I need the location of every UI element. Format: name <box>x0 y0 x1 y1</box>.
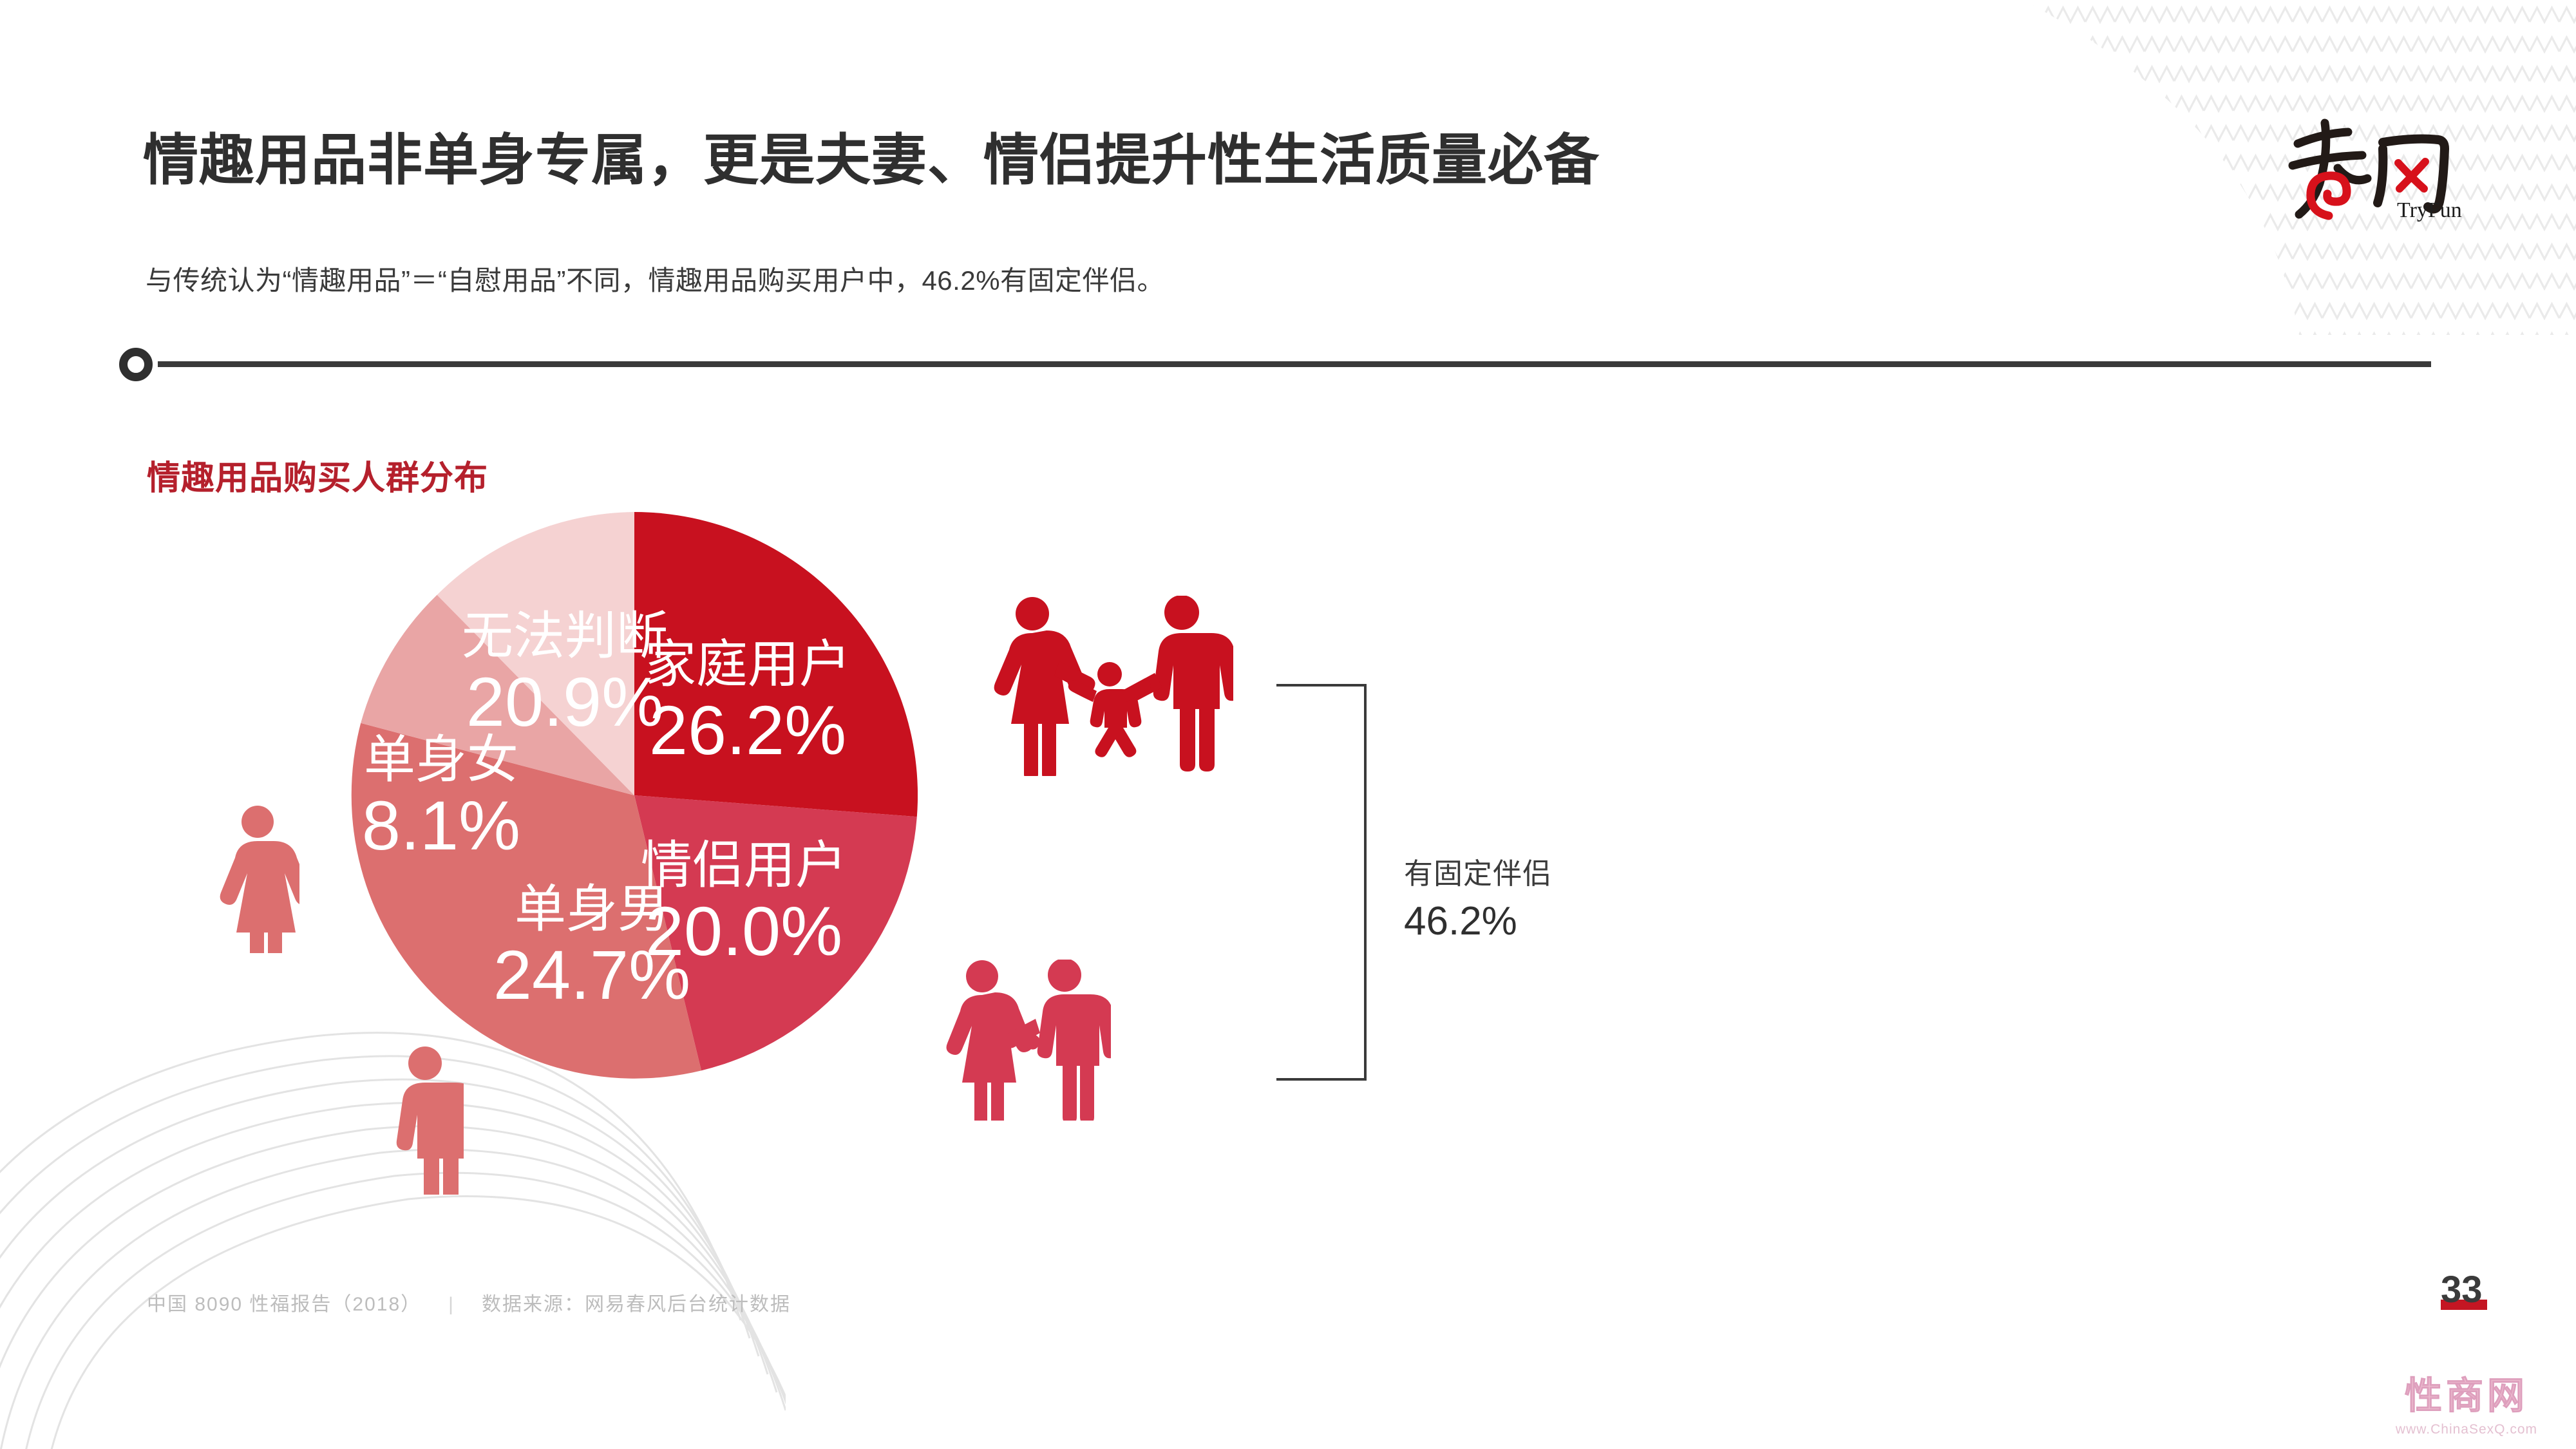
pie-chart: 家庭用户 26.2% 情侣用户 20.0% 单身男 24.7% 单身女 8.1%… <box>351 512 918 1079</box>
divider-line <box>158 361 2431 367</box>
page-number: 33 <box>2441 1272 2487 1310</box>
annotation-label: 有固定伴侣 <box>1404 850 1552 892</box>
footer-source: 数据来源：网易春风后台统计数据 <box>482 1294 791 1315</box>
couple-icon <box>937 960 1111 1121</box>
pie-slice-label-single-male: 单身男 24.7% <box>493 880 690 1014</box>
svg-text:家庭用户: 家庭用户 <box>645 636 851 693</box>
single-male-icon <box>386 1046 464 1195</box>
svg-text:情侣用户: 情侣用户 <box>641 837 847 894</box>
section-heading: 情趣用品购买人群分布 <box>147 451 488 499</box>
pie-slice-label-unknown: 无法判断 20.9% <box>462 607 668 741</box>
watermark-text: 性商网 <box>2396 1365 2537 1419</box>
footer: 中国 8090 性福报告（2018）|数据来源：网易春风后台统计数据 <box>147 1288 791 1316</box>
divider-dot <box>119 348 153 381</box>
svg-text:26.2%: 26.2% <box>649 691 846 769</box>
svg-text:单身男: 单身男 <box>515 880 669 938</box>
single-female-icon <box>216 805 299 953</box>
svg-text:8.1%: 8.1% <box>362 786 520 864</box>
footer-separator: | <box>421 1294 482 1315</box>
page-number-value: 33 <box>2441 1272 2487 1307</box>
family-icon <box>989 596 1233 776</box>
pie-slice-label-single-female: 单身女 8.1% <box>362 731 520 864</box>
page-subtitle: 与传统认为“情趣用品”＝“自慰用品”不同，情趣用品购买用户中，46.2%有固定伴… <box>146 259 1164 298</box>
brand-logo: TryFun <box>2286 106 2499 241</box>
logo-en-text: TryFun <box>2397 198 2462 222</box>
annotation-value: 46.2% <box>1404 898 1552 944</box>
annotation-fixed-partner: 有固定伴侣 46.2% <box>1404 850 1552 944</box>
svg-text:24.7%: 24.7% <box>493 936 690 1014</box>
svg-text:无法判断: 无法判断 <box>462 607 668 665</box>
page-title: 情趣用品非单身专属，更是夫妻、情侣提升性生活质量必备 <box>143 115 1600 195</box>
pie-slice-label-family: 家庭用户 26.2% <box>645 636 851 769</box>
grouping-bracket <box>1275 683 1378 1082</box>
watermark: 性商网 www.ChinaSexQ.com <box>2396 1365 2537 1437</box>
slide: TryFun 情趣用品非单身专属，更是夫妻、情侣提升性生活质量必备 与传统认为“… <box>0 0 2576 1449</box>
svg-text:20.9%: 20.9% <box>466 663 663 741</box>
watermark-url: www.ChinaSexQ.com <box>2396 1422 2537 1437</box>
footer-report: 中国 8090 性福报告（2018） <box>147 1294 421 1315</box>
